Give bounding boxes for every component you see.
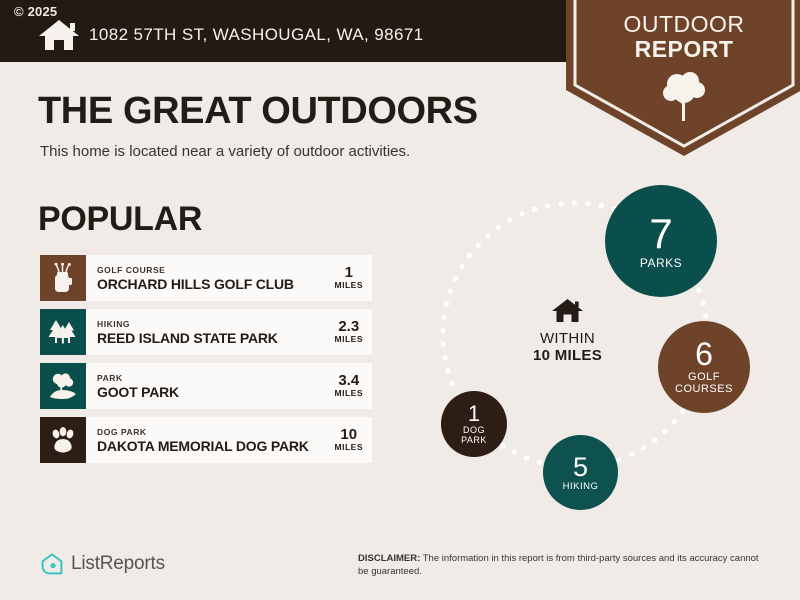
tree-icon <box>663 70 705 122</box>
outdoor-report-badge: OUTDOOR REPORT <box>566 0 800 156</box>
section-title-popular: POPULAR <box>38 200 202 239</box>
center-line-1: WITHIN <box>510 330 625 347</box>
item-icon-tile <box>40 363 86 409</box>
page-title: THE GREAT OUTDOORS <box>38 90 478 133</box>
bubble-hiking[interactable]: 5 HIKING <box>543 435 618 510</box>
pine-trees-icon <box>48 319 78 345</box>
item-distance: 10 MILES <box>329 427 363 453</box>
item-icon-tile <box>40 417 86 463</box>
item-body: HIKING REED ISLAND STATE PARK 2.3 MILES <box>86 309 372 355</box>
diagram-center: WITHIN 10 MILES <box>510 298 625 364</box>
bubble-label-line-2: PARK <box>461 436 487 445</box>
item-icon-tile <box>40 309 86 355</box>
disclaimer-label: DISCLAIMER: <box>358 553 420 564</box>
item-category: PARK <box>97 373 179 384</box>
item-distance-value: 3.4 <box>335 373 363 388</box>
bubble-dog-park[interactable]: 1 DOG PARK <box>441 391 507 457</box>
item-category: GOLF COURSE <box>97 265 294 276</box>
bubble-label: GOLF COURSES <box>675 372 733 395</box>
list-item[interactable]: PARK GOOT PARK 3.4 MILES <box>40 363 372 409</box>
outdoor-report-page: © 2025 1082 57TH ST, WASHOUGAL, WA, 9867… <box>0 0 800 600</box>
item-body: GOLF COURSE ORCHARD HILLS GOLF CLUB 1 MI… <box>86 255 372 301</box>
item-body: PARK GOOT PARK 3.4 MILES <box>86 363 372 409</box>
item-name: REED ISLAND STATE PARK <box>97 330 278 346</box>
badge-line-2: REPORT <box>566 37 800 62</box>
item-distance-unit: MILES <box>335 334 363 345</box>
item-distance-value: 2.3 <box>335 319 363 334</box>
listreports-house-icon <box>40 552 64 576</box>
disclaimer: DISCLAIMER: The information in this repo… <box>358 553 770 578</box>
bubble-label: HIKING <box>563 482 599 492</box>
item-category: HIKING <box>97 319 278 330</box>
bubble-label: PARKS <box>640 257 682 270</box>
badge-label: OUTDOOR REPORT <box>566 12 800 62</box>
listreports-logo[interactable]: ListReports <box>40 552 165 576</box>
bubble-golf-courses[interactable]: 6 GOLF COURSES <box>658 321 750 413</box>
item-name: GOOT PARK <box>97 384 179 400</box>
popular-list: GOLF COURSE ORCHARD HILLS GOLF CLUB 1 MI… <box>40 255 372 471</box>
item-distance-unit: MILES <box>335 280 363 291</box>
page-subtitle: This home is located near a variety of o… <box>40 143 410 160</box>
list-item[interactable]: GOLF COURSE ORCHARD HILLS GOLF CLUB 1 MI… <box>40 255 372 301</box>
item-body: DOG PARK DAKOTA MEMORIAL DOG PARK 10 MIL… <box>86 417 372 463</box>
paw-print-icon <box>49 426 77 454</box>
item-name: DAKOTA MEMORIAL DOG PARK <box>97 438 309 454</box>
center-line-2: 10 MILES <box>510 347 625 364</box>
bubble-value: 6 <box>695 338 713 370</box>
list-item[interactable]: HIKING REED ISLAND STATE PARK 2.3 MILES <box>40 309 372 355</box>
bubble-parks[interactable]: 7 PARKS <box>605 185 717 297</box>
badge-line-1: OUTDOOR <box>566 12 800 37</box>
home-icon <box>551 298 584 324</box>
bubble-label: DOG PARK <box>461 426 487 445</box>
amenities-diagram: 7 PARKS 6 GOLF COURSES 5 HIKING 1 DOG PA… <box>415 165 775 515</box>
golf-bag-icon <box>50 263 76 293</box>
listreports-wordmark: ListReports <box>71 553 165 575</box>
bubble-label-line-2: COURSES <box>675 384 733 396</box>
item-distance-value: 10 <box>335 427 363 442</box>
item-distance: 2.3 MILES <box>329 319 363 345</box>
bubble-value: 1 <box>468 403 480 425</box>
item-name: ORCHARD HILLS GOLF CLUB <box>97 276 294 292</box>
bubble-value: 7 <box>649 213 672 255</box>
home-icon <box>37 18 81 52</box>
list-item[interactable]: DOG PARK DAKOTA MEMORIAL DOG PARK 10 MIL… <box>40 417 372 463</box>
item-distance-unit: MILES <box>335 442 363 453</box>
copyright-text: © 2025 <box>14 4 57 19</box>
item-distance: 3.4 MILES <box>329 373 363 399</box>
item-distance-value: 1 <box>335 265 363 280</box>
item-icon-tile <box>40 255 86 301</box>
property-address: 1082 57TH ST, WASHOUGAL, WA, 98671 <box>89 25 424 45</box>
item-distance-unit: MILES <box>335 388 363 399</box>
bubble-value: 5 <box>573 454 588 481</box>
item-category: DOG PARK <box>97 427 309 438</box>
park-tree-icon <box>48 373 78 399</box>
item-distance: 1 MILES <box>329 265 363 291</box>
